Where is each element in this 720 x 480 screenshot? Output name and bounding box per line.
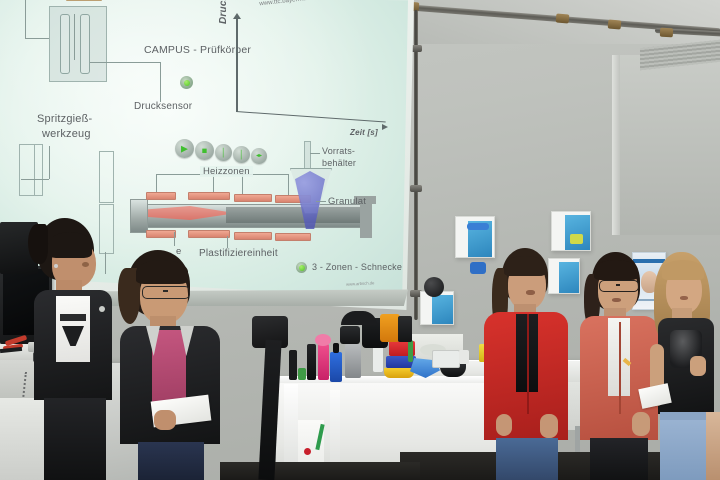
leader-line <box>25 0 26 38</box>
glasses <box>599 280 639 292</box>
hopper-column <box>304 141 311 169</box>
leader-line <box>310 153 320 154</box>
leader-line <box>160 62 161 102</box>
jeans <box>496 438 558 480</box>
label-mould-tool-2: werkzeug <box>42 128 91 140</box>
prop-pink-top <box>315 334 331 346</box>
lips <box>82 262 89 267</box>
screw-shaft <box>226 207 364 223</box>
specimen-cavity-left <box>60 14 70 74</box>
label-y-axis: Druck [bar] <box>218 0 229 24</box>
prop-orange-case <box>380 314 400 342</box>
time-axis-arrow-icon <box>382 124 388 130</box>
slide-move-button: ◂▸ <box>251 148 267 164</box>
prop-chair-arc <box>341 311 377 325</box>
hair-front <box>48 232 92 258</box>
shelf-interior <box>565 215 590 250</box>
prop-pink-bottle <box>318 344 329 380</box>
slide-clamp-close-button: │ <box>233 146 250 163</box>
screenshot-root: nsatz Drucksensor CAMPUS - Prüfkörper Sp… <box>0 0 720 480</box>
prop-dark-device <box>398 316 412 342</box>
jacket-stud <box>99 306 105 312</box>
play-icon: ▶ <box>181 144 188 153</box>
black-trousers <box>590 438 648 480</box>
mouth <box>612 298 621 302</box>
prop-green-stick <box>408 340 413 362</box>
leader-line <box>316 201 326 202</box>
glasses-bridge <box>616 284 620 286</box>
label-hopper-1: Vorrats- <box>322 146 355 156</box>
prop-white-small <box>459 350 469 364</box>
wall-sphere-object <box>424 277 444 297</box>
nozzle-block <box>130 199 148 233</box>
clamp-plate-a <box>19 144 35 196</box>
prop-white-tray <box>432 350 460 368</box>
jeans <box>138 442 204 480</box>
earring <box>54 264 58 268</box>
heater-band <box>275 233 311 241</box>
specimen-cavity-right <box>80 14 90 74</box>
clamp-plate-b <box>34 144 43 196</box>
heater-band <box>146 192 176 200</box>
prop-green-small <box>298 368 306 380</box>
shelf-object-blue <box>467 223 489 230</box>
ponytail <box>28 224 48 264</box>
leader-line <box>49 146 50 179</box>
screw-drive-body <box>360 204 372 238</box>
person-partial-edge <box>706 412 720 480</box>
label-heating-zones: Heizzonen <box>200 166 253 177</box>
label-granulate: Granulat <box>328 196 366 207</box>
tshirt-print-line <box>60 314 86 321</box>
heater-band <box>146 230 176 238</box>
prop-white-bottle <box>373 344 383 372</box>
three-zone-screw-icon <box>296 262 307 273</box>
glasses <box>142 286 190 299</box>
hand <box>540 414 558 438</box>
prop-blue-bottle <box>330 352 342 382</box>
pipe-joint-icon <box>660 28 673 38</box>
clamp-close-icon: │ <box>239 151 244 159</box>
hand <box>496 414 512 436</box>
pressure-axis <box>236 18 238 112</box>
slide-stop-button: ■ <box>195 141 214 160</box>
shelf-interior <box>432 295 453 324</box>
zip-line <box>527 314 529 414</box>
shelf-object-yellow <box>570 234 583 244</box>
floor-center <box>220 462 420 480</box>
person-student-2 <box>110 250 230 480</box>
pressure-axis-arrow-icon <box>233 13 241 19</box>
prop-black-case <box>340 326 360 344</box>
pipe-clamp-icon <box>410 185 422 192</box>
hair-front <box>504 256 546 276</box>
mouth <box>680 296 688 300</box>
leader-line <box>174 232 175 246</box>
wall-pipe-vertical <box>414 10 418 320</box>
mouth <box>526 290 535 295</box>
runner-line <box>74 14 75 60</box>
bag-red-dot <box>304 448 311 455</box>
hair-front <box>136 260 188 284</box>
leader-line <box>21 179 49 180</box>
stop-icon: ■ <box>202 146 207 155</box>
person-student-3 <box>480 248 576 480</box>
leader-line <box>90 62 160 63</box>
label-three-zone-screw: 3 - Zonen - Schnecke <box>312 262 402 272</box>
hair-front <box>662 260 704 280</box>
label-hopper-2: behälter <box>322 158 356 168</box>
zip-line <box>619 322 621 414</box>
label-x-axis: Zeit [s] <box>350 128 378 137</box>
heater-band <box>234 232 272 240</box>
label-insert: nsatz <box>24 0 48 3</box>
wall-soffit <box>612 55 720 235</box>
hand <box>154 410 176 430</box>
prop-blue-bottle-cap <box>333 343 339 353</box>
wall-cube-shelf <box>551 211 591 251</box>
hand <box>690 356 706 376</box>
label-mould-tool-1: Spritzgieß- <box>37 113 92 125</box>
mould-insert-plate <box>49 6 107 82</box>
heater-band <box>188 192 230 200</box>
glasses-bridge <box>163 290 168 292</box>
sprue-bar <box>66 0 102 1</box>
prop-yellow-bowl <box>384 368 414 378</box>
campus-specimen-icon <box>180 76 193 89</box>
slide-play-button: ▶ <box>175 139 194 158</box>
heater-band <box>188 230 230 238</box>
pipe-joint-icon <box>556 13 570 23</box>
heater-band <box>234 194 272 202</box>
heating-tick <box>242 174 243 196</box>
move-icon: ◂▸ <box>256 153 262 159</box>
label-pressure-sensor: Drucksensor <box>134 101 192 112</box>
prop-black-tube <box>289 350 297 380</box>
pipe-joint-icon <box>608 19 622 29</box>
leader-line <box>227 236 228 248</box>
hair-front <box>594 260 638 280</box>
trousers <box>44 398 106 480</box>
prop-silver-cylinder <box>345 344 361 378</box>
soffit-edge <box>612 55 620 235</box>
prop-black-spray <box>307 344 316 380</box>
mould-half-top <box>99 151 114 203</box>
slide-clamp-open-button: │ <box>215 144 232 161</box>
leader-line <box>25 38 49 39</box>
clamp-open-icon: │ <box>221 149 226 157</box>
